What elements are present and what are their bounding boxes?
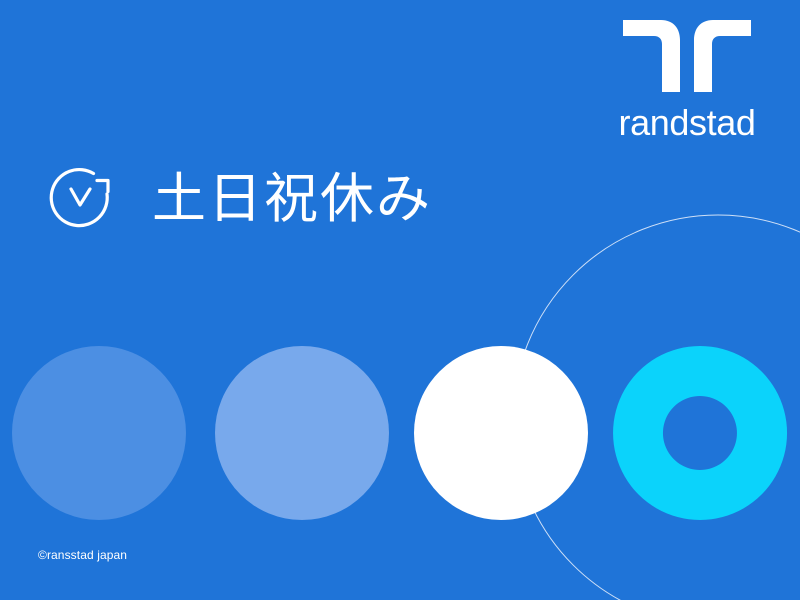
brand-logo: randstad xyxy=(602,18,772,142)
circle-solid-3 xyxy=(414,346,588,520)
headline-block: 土日祝休み xyxy=(44,163,432,235)
circle-solid-1 xyxy=(12,346,186,520)
circle-solid-2 xyxy=(215,346,389,520)
brand-wordmark: randstad xyxy=(602,104,772,142)
randstad-banner: randstad 土日祝休み ©ransstad japan xyxy=(0,0,800,600)
randstad-y-mark-icon xyxy=(623,18,751,94)
circle-ring-4 xyxy=(613,346,787,520)
footer-credit: ©ransstad japan xyxy=(38,548,127,562)
headline-text: 土日祝休み xyxy=(152,168,432,230)
clock-arrow-icon xyxy=(44,163,116,235)
